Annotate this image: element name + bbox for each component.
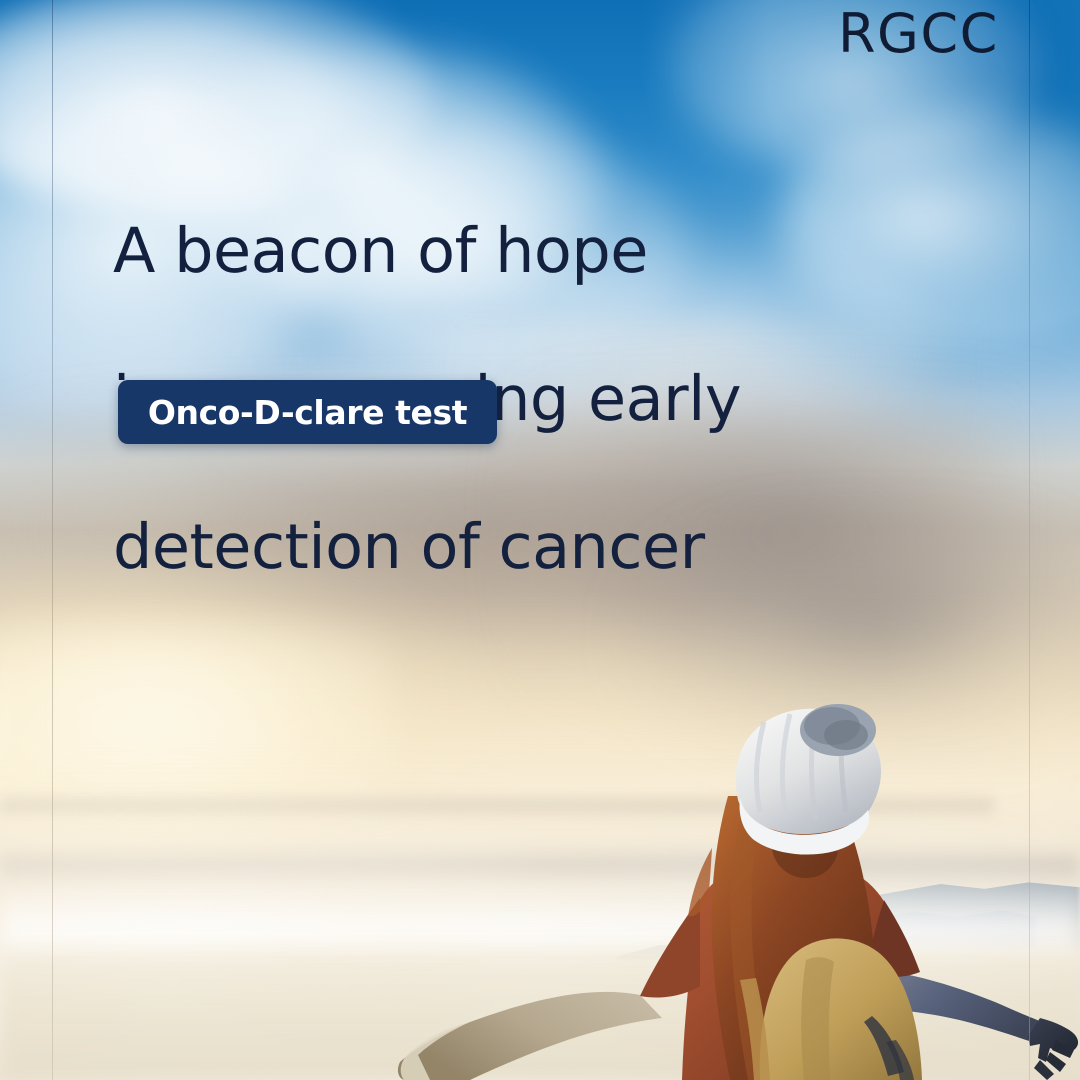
rgcc-logo[interactable]: RGCC	[838, 2, 999, 65]
guide-line-right	[1029, 0, 1030, 1080]
foreground-cloud-fill	[0, 950, 1080, 1080]
cta-label: Onco-D-clare test	[148, 393, 467, 432]
onco-d-clare-test-button[interactable]: Onco-D-clare test	[118, 380, 497, 444]
guide-line-left	[52, 0, 53, 1080]
promotional-poster: RGCC A beacon of hope in empowering earl…	[0, 0, 1080, 1080]
headline-line-3: detection of cancer	[113, 510, 813, 584]
headline-line-1: A beacon of hope	[113, 214, 813, 288]
